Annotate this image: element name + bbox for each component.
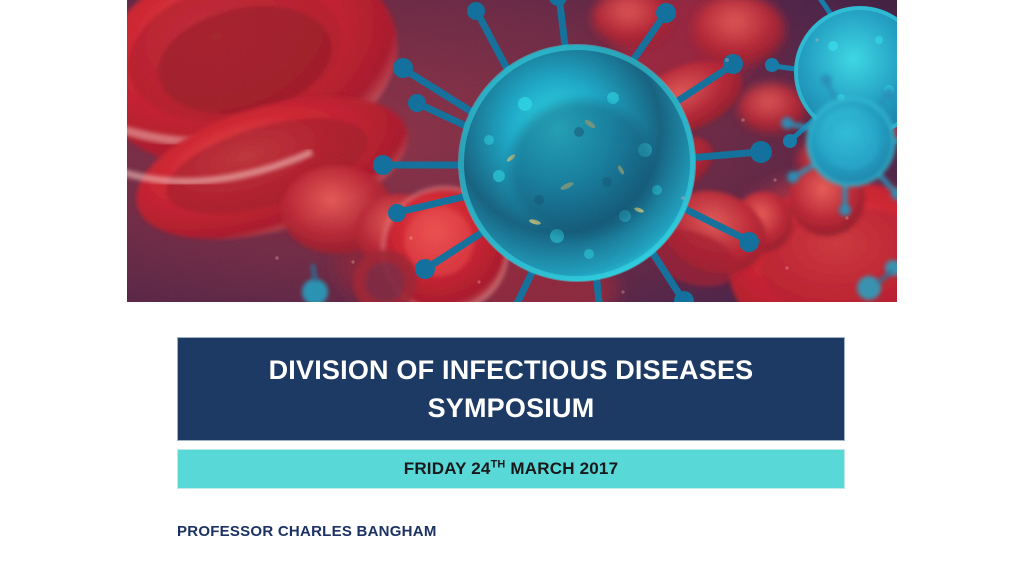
speaker-name: PROFESSOR CHARLES BANGHAM [177,523,437,540]
hero-illustration [127,0,897,302]
title-line-2: SYMPOSIUM [428,389,595,427]
event-date-suffix: MARCH 2017 [506,459,619,478]
event-date-ordinal: TH [491,458,506,470]
event-date-text: FRIDAY 24TH MARCH 2017 [404,459,618,479]
hero-image [127,0,897,302]
title-line-1: DIVISION OF INFECTIOUS DISEASES [269,351,754,389]
event-date-prefix: FRIDAY 24 [404,459,491,478]
symposium-title-banner: DIVISION OF INFECTIOUS DISEASES SYMPOSIU… [177,337,845,441]
event-date-banner: FRIDAY 24TH MARCH 2017 [177,449,845,489]
